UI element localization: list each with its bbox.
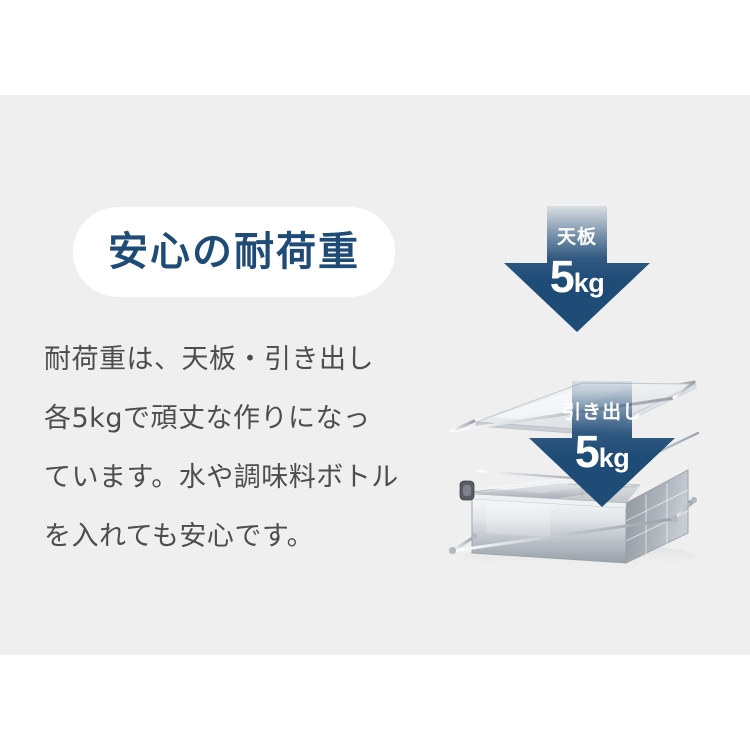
badge-weight-drawer: 5kg [529,429,675,474]
badge-weight-top: 5kg [504,254,650,299]
badge-weight-number-top: 5 [550,251,574,302]
badge-caption-top: 天板 [504,228,650,247]
description-line: を入れても安心です。 [44,507,424,566]
badge-weight-unit-drawer: kg [599,443,630,473]
description-line: ています。水や調味料ボトル [44,448,424,507]
page-title: 安心の耐荷重 [108,232,360,272]
drawer-catch [460,481,474,500]
badge-drawer-load: 引き出し 5kg [529,381,675,507]
bottom-white-band [0,655,750,750]
description-line: 耐荷重は、天板・引き出し [44,330,424,389]
badge-caption-drawer: 引き出し [529,403,675,422]
badge-weight-number-drawer: 5 [575,426,599,477]
badge-top-shelf-load: 天板 5kg [504,206,650,332]
promo-panel: 天板 5kg 引き出し 5kg 安心の耐荷重 [0,0,750,750]
badge-weight-unit-top: kg [574,268,605,298]
top-white-band [0,0,750,95]
description-line: 各5kgで頑丈な作りになっ [44,389,424,448]
description-block: 耐荷重は、天板・引き出し 各5kgで頑丈な作りになっ ています。水や調味料ボトル… [44,330,424,566]
headline-pill: 安心の耐荷重 [73,207,395,297]
